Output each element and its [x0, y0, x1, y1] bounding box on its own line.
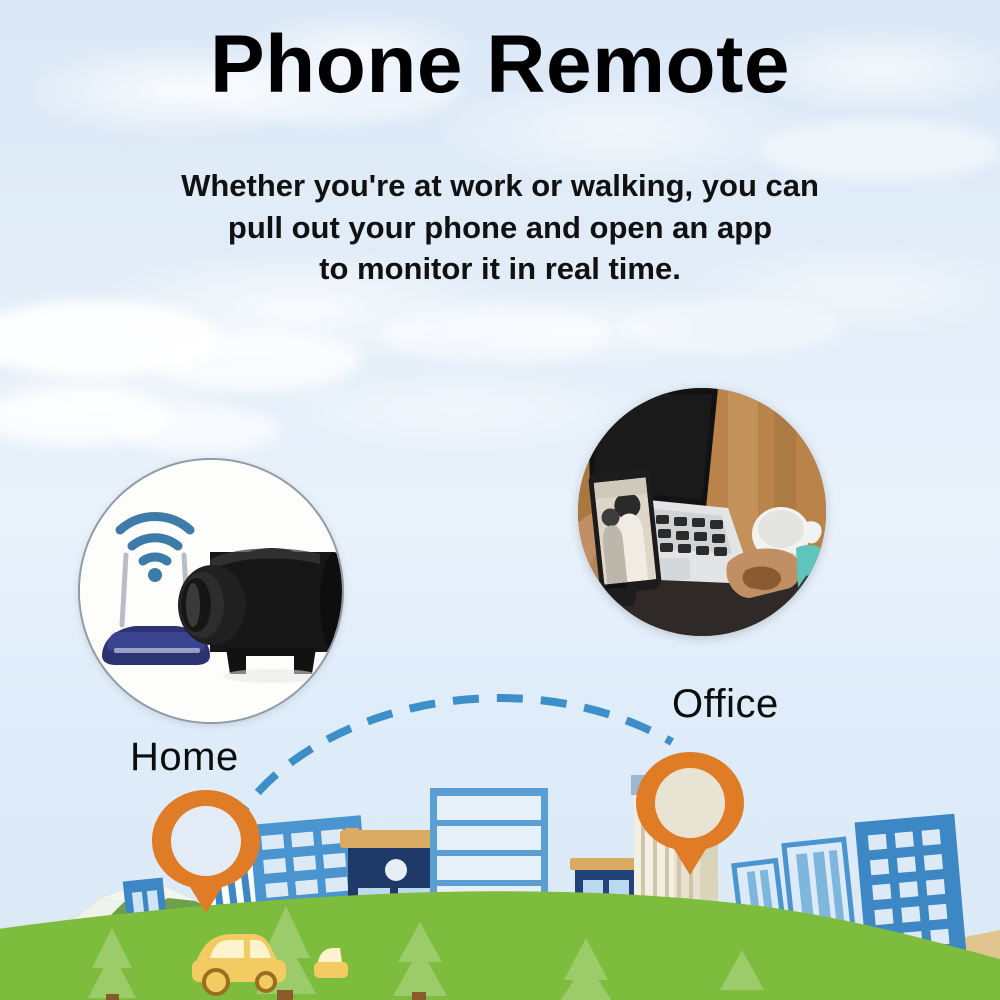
office-label: Office [672, 682, 779, 727]
video-call-on-screen [594, 478, 656, 585]
clock-icon [385, 859, 407, 881]
wifi-dot [148, 568, 162, 582]
office-photo-content [578, 388, 826, 636]
smartphone [588, 467, 662, 595]
device-photo-circle [78, 458, 344, 724]
office-photo-circle [578, 388, 826, 636]
poster-root: Phone Remote Whether you're at work or w… [0, 0, 1000, 1000]
device-photo-content [80, 460, 342, 722]
home-label: Home [130, 735, 239, 780]
